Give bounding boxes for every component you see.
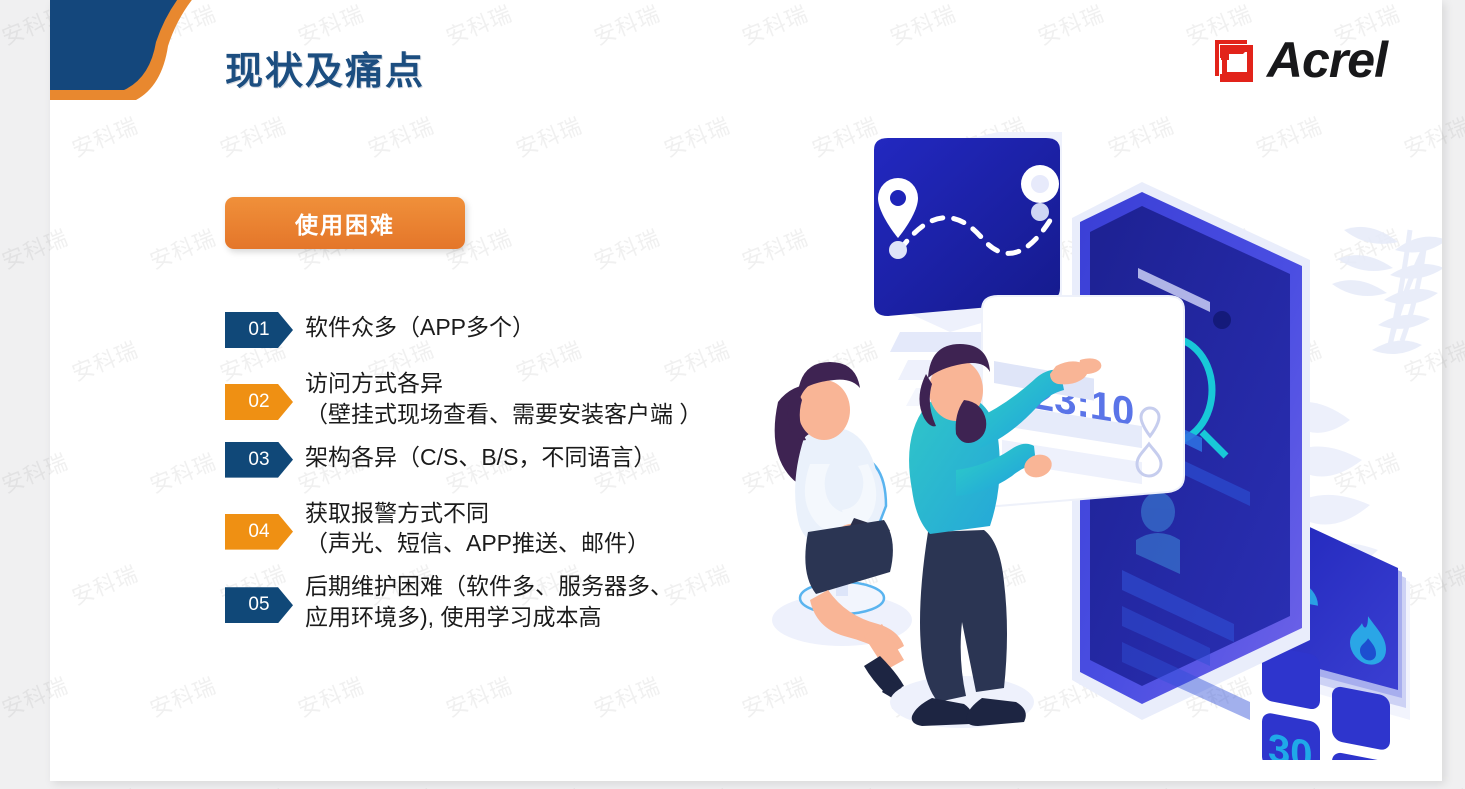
brand-logo: Acrel	[1207, 36, 1387, 86]
slide-canvas: 现状及痛点 Acrel 使用困难 01 软件众	[0, 0, 1465, 789]
watermark-text: 安科瑞	[659, 780, 735, 789]
watermark-text: 安科瑞	[511, 780, 587, 789]
watermark-text: 安科瑞	[67, 780, 143, 789]
item-number-badge: 01	[225, 312, 293, 348]
watermark-text: 安科瑞	[215, 780, 291, 789]
section-button[interactable]: 使用困难	[225, 197, 465, 249]
item-number-badge: 04	[225, 514, 293, 550]
isometric-people-mobile-app-illustration: 30 230	[750, 120, 1442, 760]
watermark-text: 安科瑞	[363, 780, 439, 789]
page-title: 现状及痛点	[225, 40, 425, 95]
acrel-square-logo-icon	[1207, 36, 1259, 86]
item-text: 架构各异（C/S、B/S，不同语言）	[305, 442, 656, 473]
list-item: 02 访问方式各异 （壁挂式现场查看、需要安装客户端 ）	[225, 368, 785, 430]
list-item: 05 后期维护困难（软件多、服务器多、 应用环境多), 使用学习成本高	[225, 571, 785, 633]
item-number-badge: 03	[225, 442, 293, 478]
item-number-badge: 05	[225, 587, 293, 623]
section-button-label: 使用困难	[295, 206, 395, 240]
item-text: 软件众多（APP多个）	[305, 312, 535, 343]
list-item: 01 软件众多（APP多个）	[225, 312, 785, 348]
watermark-text: 安科瑞	[955, 780, 1031, 789]
item-number-badge: 02	[225, 384, 293, 420]
watermark-text: 安科瑞	[1103, 780, 1179, 789]
watermark-text: 安科瑞	[1399, 780, 1465, 789]
list-item: 04 获取报警方式不同 （声光、短信、APP推送、邮件）	[225, 498, 785, 560]
corner-decoration	[50, 0, 222, 110]
list-item: 03 架构各异（C/S、B/S，不同语言）	[225, 442, 785, 478]
slide-card: 现状及痛点 Acrel 使用困难 01 软件众	[50, 0, 1442, 781]
item-text: 后期维护困难（软件多、服务器多、 应用环境多), 使用学习成本高	[305, 571, 673, 633]
woman-seated-with-phone	[772, 362, 912, 706]
watermark-text: 安科瑞	[807, 780, 883, 789]
watermark-text: 安科瑞	[1251, 780, 1327, 789]
item-text: 获取报警方式不同 （声光、短信、APP推送、邮件）	[305, 498, 650, 560]
pain-point-list: 01 软件众多（APP多个） 02 访问方式各异 （壁挂式现场查看、需要安装客户…	[225, 312, 785, 645]
item-text: 访问方式各异 （壁挂式现场查看、需要安装客户端 ）	[305, 368, 702, 430]
brand-name: Acrel	[1267, 37, 1387, 85]
